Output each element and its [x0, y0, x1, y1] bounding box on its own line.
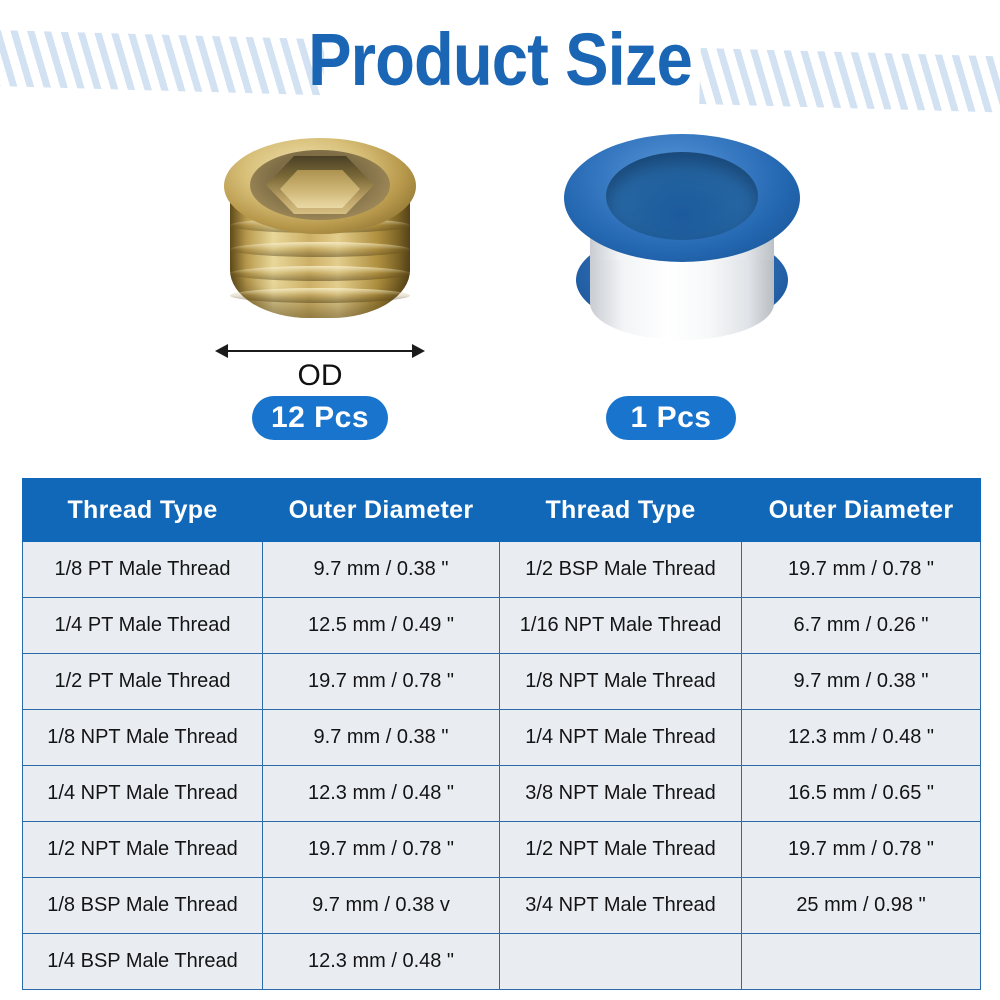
table-row: 1/8 NPT Male Thread9.7 mm / 0.38 "1/4 NP… — [23, 710, 981, 766]
plug-thread-ridge — [230, 266, 410, 281]
column-header-thread-type-2: Thread Type — [500, 479, 742, 542]
table-cell: 12.5 mm / 0.49 " — [263, 598, 500, 654]
od-dimension-line — [225, 350, 415, 352]
table-cell: 9.7 mm / 0.38 " — [263, 710, 500, 766]
table-row: 1/8 PT Male Thread9.7 mm / 0.38 "1/2 BSP… — [23, 542, 981, 598]
plug-thread-ridge — [230, 288, 410, 303]
table-row: 1/8 BSP Male Thread9.7 mm / 0.38 v3/4 NP… — [23, 878, 981, 934]
table-cell: 1/4 NPT Male Thread — [23, 766, 263, 822]
table-cell: 6.7 mm / 0.26 " — [742, 598, 981, 654]
table-cell: 19.7 mm / 0.78 " — [263, 654, 500, 710]
table-cell: 1/4 BSP Male Thread — [23, 934, 263, 990]
product-gallery: OD — [0, 120, 1000, 440]
table-row: 1/4 BSP Male Thread12.3 mm / 0.48 " — [23, 934, 981, 990]
ptfe-tape-roll-icon — [562, 134, 802, 334]
od-label: OD — [215, 358, 425, 394]
table-cell: 1/2 BSP Male Thread — [500, 542, 742, 598]
table-cell: 1/4 NPT Male Thread — [500, 710, 742, 766]
table-cell: 1/8 NPT Male Thread — [500, 654, 742, 710]
page-title: Product Size — [60, 18, 940, 102]
tape-white-winding-lower — [590, 260, 774, 340]
table-row: 1/4 PT Male Thread12.5 mm / 0.49 "1/16 N… — [23, 598, 981, 654]
table-cell: 3/8 NPT Male Thread — [500, 766, 742, 822]
table-cell — [742, 934, 981, 990]
table-cell: 25 mm / 0.98 " — [742, 878, 981, 934]
table-cell: 19.7 mm / 0.78 " — [742, 822, 981, 878]
quantity-badge-ptfe-tape: 1 Pcs — [606, 396, 736, 440]
table-cell: 9.7 mm / 0.38 v — [263, 878, 500, 934]
table-cell: 19.7 mm / 0.78 " — [742, 542, 981, 598]
product-brass-plug: OD — [110, 120, 530, 440]
column-header-thread-type-1: Thread Type — [23, 479, 263, 542]
table-cell: 1/8 NPT Male Thread — [23, 710, 263, 766]
od-dimension-indicator: OD — [215, 342, 425, 398]
table-cell: 12.3 mm / 0.48 " — [263, 766, 500, 822]
title-band: Product Size — [0, 0, 1000, 120]
table-cell: 1/8 PT Male Thread — [23, 542, 263, 598]
table-cell: 19.7 mm / 0.78 " — [263, 822, 500, 878]
table-header-row: Thread Type Outer Diameter Thread Type O… — [23, 479, 981, 542]
product-size-table: Thread Type Outer Diameter Thread Type O… — [22, 478, 981, 990]
plug-thread-ridge — [230, 242, 410, 257]
table-cell: 16.5 mm / 0.65 " — [742, 766, 981, 822]
tape-core-hole — [606, 152, 758, 240]
table-cell: 12.3 mm / 0.48 " — [263, 934, 500, 990]
table-row: 1/4 NPT Male Thread12.3 mm / 0.48 "3/8 N… — [23, 766, 981, 822]
table-body: 1/8 PT Male Thread9.7 mm / 0.38 "1/2 BSP… — [23, 542, 981, 990]
table-cell: 1/2 PT Male Thread — [23, 654, 263, 710]
table-cell: 9.7 mm / 0.38 " — [263, 542, 500, 598]
column-header-outer-diameter-2: Outer Diameter — [742, 479, 981, 542]
column-header-outer-diameter-1: Outer Diameter — [263, 479, 500, 542]
table-cell: 1/4 PT Male Thread — [23, 598, 263, 654]
table-row: 1/2 NPT Male Thread19.7 mm / 0.78 "1/2 N… — [23, 822, 981, 878]
table-cell: 12.3 mm / 0.48 " — [742, 710, 981, 766]
brass-hex-socket-plug-icon — [222, 130, 418, 326]
table-row: 1/2 PT Male Thread19.7 mm / 0.78 "1/8 NP… — [23, 654, 981, 710]
product-ptfe-tape — [470, 120, 890, 440]
table-cell: 1/16 NPT Male Thread — [500, 598, 742, 654]
table-cell: 1/2 NPT Male Thread — [23, 822, 263, 878]
table-cell: 9.7 mm / 0.38 " — [742, 654, 981, 710]
quantity-badge-brass-plug: 12 Pcs — [252, 396, 388, 440]
table-cell — [500, 934, 742, 990]
arrow-right-icon — [412, 344, 425, 358]
table-cell: 1/8 BSP Male Thread — [23, 878, 263, 934]
table-cell: 1/2 NPT Male Thread — [500, 822, 742, 878]
table-cell: 3/4 NPT Male Thread — [500, 878, 742, 934]
